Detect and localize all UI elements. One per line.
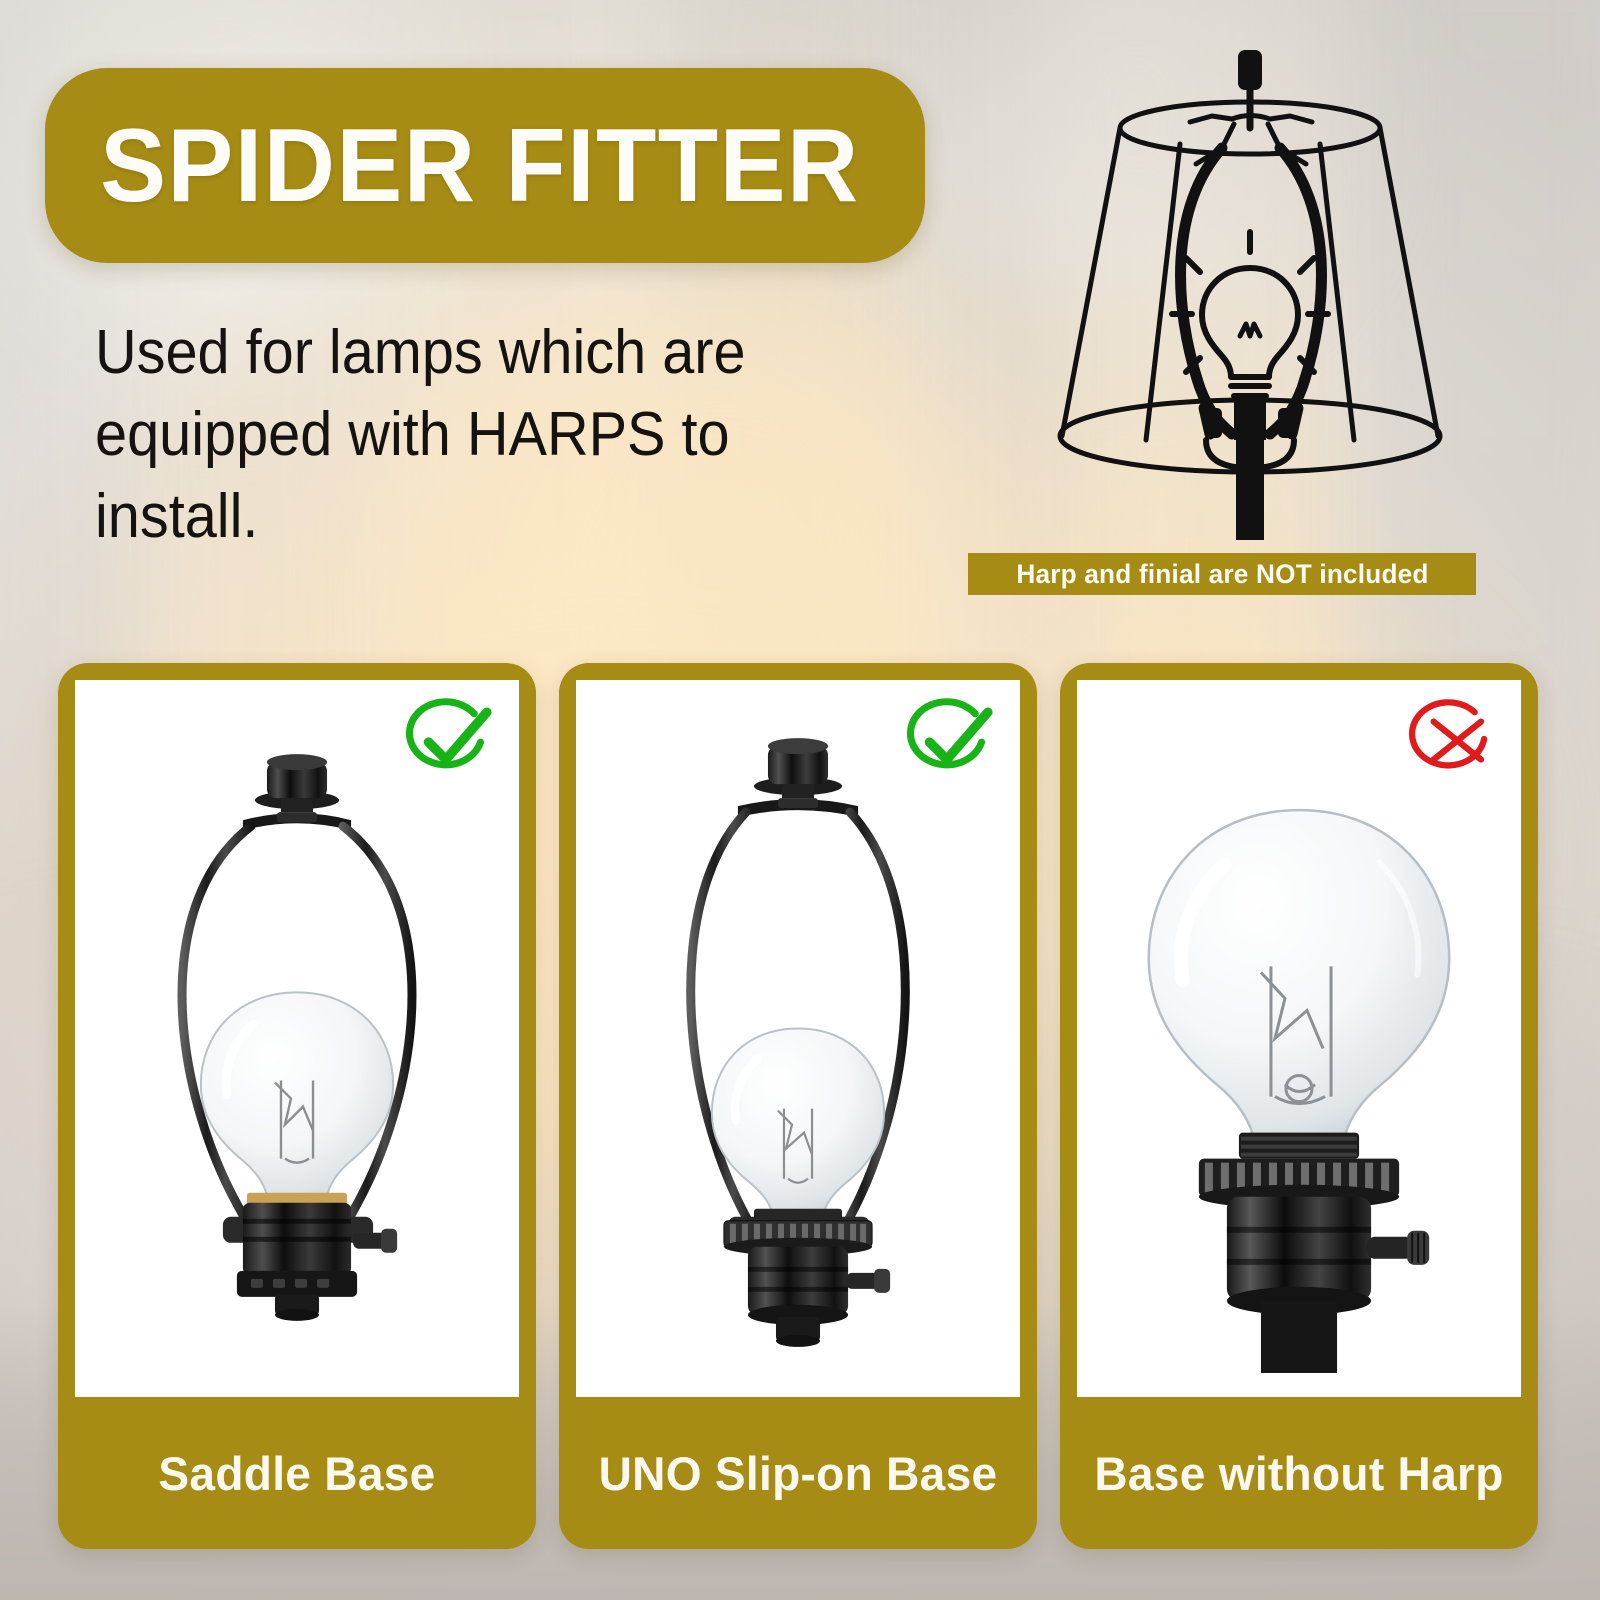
status-icon-saddle-base (401, 698, 497, 780)
red-x-circle-icon (1403, 698, 1499, 780)
card-label-base-without-harp: Base without Harp (1081, 1397, 1516, 1549)
lampshade-harp-bulb-illustration (1000, 36, 1500, 556)
card-saddle-base[interactable]: Saddle Base (58, 663, 536, 1549)
harp-saddle-left-nub (1206, 408, 1222, 438)
card-base-without-harp[interactable]: Base without Harp (1060, 663, 1538, 1549)
green-check-circle-icon (401, 698, 497, 780)
lamp-stem-shape (1236, 440, 1264, 540)
card-photo-saddle-base (75, 680, 519, 1397)
harp-with-saddle-base-product-image (75, 680, 519, 1397)
compatibility-cards-row: Saddle Base (58, 663, 1538, 1549)
card-uno-slip-on-base[interactable]: UNO Slip-on Base (559, 663, 1037, 1549)
card-photo-base-without-harp (1077, 680, 1521, 1397)
card-photo-uno-slip-on-base (576, 680, 1020, 1397)
not-included-caption: Harp and finial are NOT included (1016, 559, 1428, 590)
harp-with-uno-slip-on-base-product-image (576, 680, 1020, 1397)
page-title: SPIDER FITTER (45, 114, 860, 218)
card-label-saddle-base: Saddle Base (79, 1397, 514, 1549)
harp-saddle-right-nub (1278, 408, 1294, 438)
status-icon-uno-slip-on-base (902, 698, 998, 780)
title-banner: SPIDER FITTER (45, 68, 925, 263)
bare-socket-with-bulb-product-image (1077, 680, 1521, 1397)
subtitle-text: Used for lamps which are equipped with H… (95, 312, 839, 557)
status-icon-base-without-harp (1403, 698, 1499, 780)
card-label-uno-slip-on-base: UNO Slip-on Base (580, 1397, 1015, 1549)
harp-finial-not-included-banner: Harp and finial are NOT included (968, 553, 1476, 595)
socket-body-shape (1234, 394, 1266, 440)
green-check-circle-icon (902, 698, 998, 780)
